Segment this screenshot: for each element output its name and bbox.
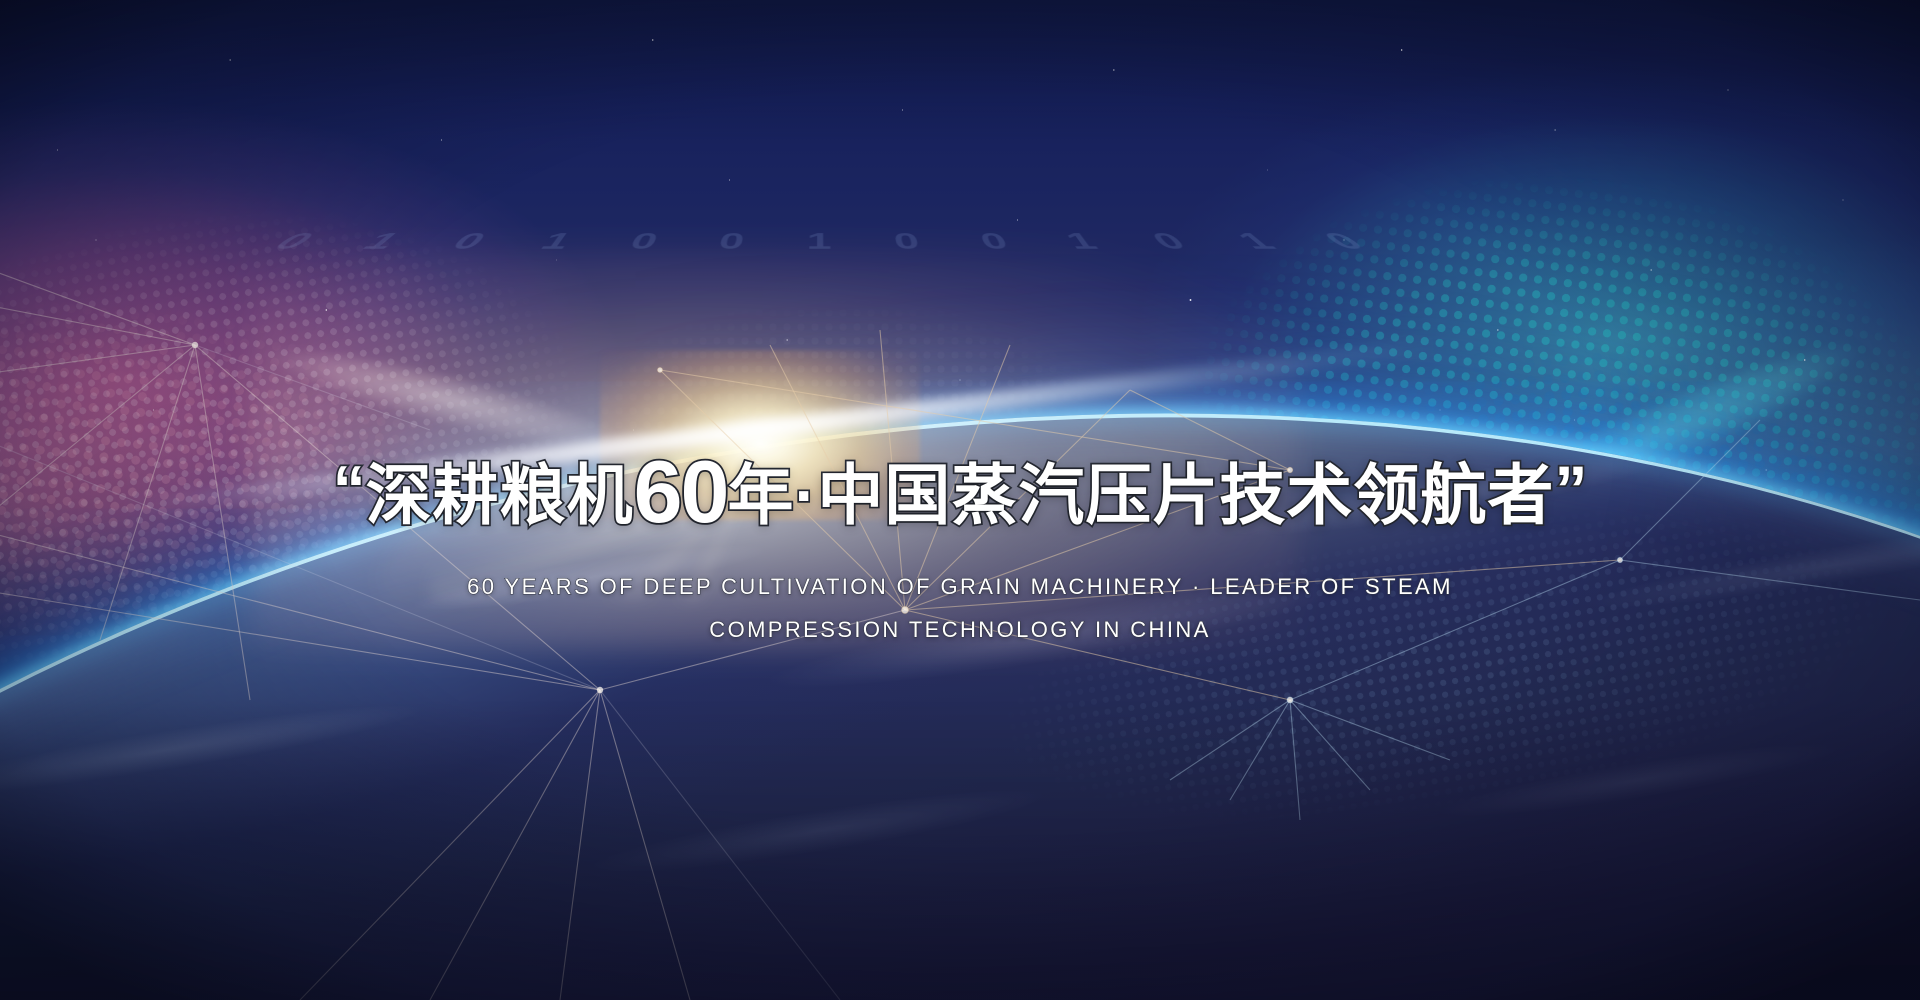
headline-part-1: 深耕粮机 bbox=[366, 458, 634, 532]
subtitle-line-1: 60 YEARS OF DEEP CULTIVATION OF GRAIN MA… bbox=[0, 574, 1920, 600]
close-quote-mark: ” bbox=[1554, 452, 1587, 526]
banner-canvas: 0101001001010 bbox=[0, 0, 1920, 1000]
headline-slogan: “深耕粮机60年·中国蒸汽压片技术领航者” bbox=[0, 448, 1920, 536]
headline-part-2: 年·中国蒸汽压片技术领航者 bbox=[727, 458, 1554, 532]
headline-number-60: 60 bbox=[634, 442, 728, 541]
open-quote-mark: “ bbox=[333, 452, 366, 526]
subtitle-line-2: COMPRESSION TECHNOLOGY IN CHINA bbox=[0, 617, 1920, 643]
banner-copy: “深耕粮机60年·中国蒸汽压片技术领航者” 60 YEARS OF DEEP C… bbox=[0, 448, 1920, 643]
